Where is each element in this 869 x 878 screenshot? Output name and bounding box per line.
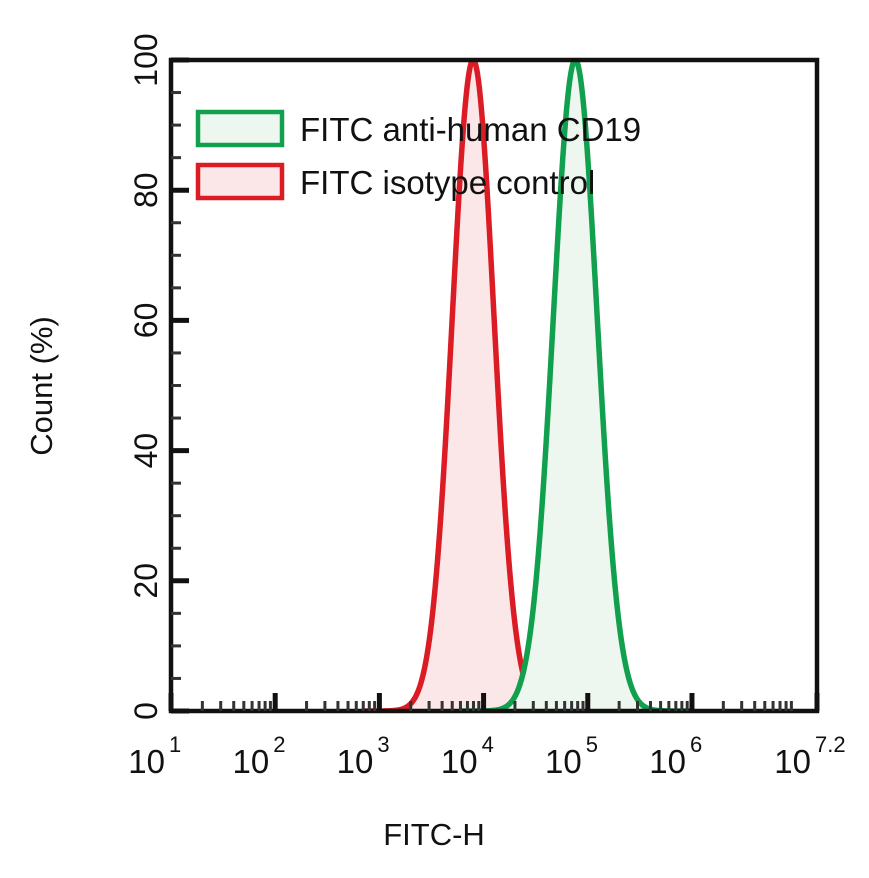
x-tick-exponent: 6 <box>690 732 702 757</box>
x-tick-exponent: 1 <box>169 732 181 757</box>
legend-label-isotype-control: FITC isotype control <box>300 164 595 201</box>
x-tick-base: 10 <box>545 743 582 780</box>
y-tick-label: 40 <box>128 433 164 469</box>
y-tick-label: 80 <box>128 172 164 208</box>
x-tick-base: 10 <box>441 743 478 780</box>
legend-label-anti-human-cd19: FITC anti-human CD19 <box>300 111 641 148</box>
x-tick-exponent: 4 <box>482 732 494 757</box>
x-tick-base: 10 <box>337 743 374 780</box>
y-tick-label: 20 <box>128 563 164 599</box>
x-tick-exponent: 5 <box>586 732 598 757</box>
legend-swatch-green <box>198 112 282 145</box>
y-axis-title: Count (%) <box>24 316 59 456</box>
x-tick-base: 10 <box>649 743 686 780</box>
x-tick-exponent: 2 <box>273 732 285 757</box>
legend-entry-0[interactable]: FITC anti-human CD19 <box>198 111 641 148</box>
flow-cytometry-histogram: 101102103104105106107.2 020406080100 FIT… <box>0 0 869 878</box>
histogram-plot: 101102103104105106107.2 020406080100 FIT… <box>0 0 869 878</box>
legend-entry-1[interactable]: FITC isotype control <box>198 164 595 201</box>
x-tick-exponent: 7.2 <box>815 732 846 757</box>
x-tick-base: 10 <box>232 743 269 780</box>
y-tick-label: 0 <box>128 702 164 720</box>
y-tick-label: 60 <box>128 303 164 339</box>
legend-swatch-red <box>198 165 282 198</box>
x-axis-title: FITC-H <box>383 817 485 852</box>
x-tick-exponent: 3 <box>377 732 389 757</box>
x-tick-base: 10 <box>774 743 811 780</box>
y-tick-label: 100 <box>128 33 164 86</box>
x-tick-base: 10 <box>128 743 165 780</box>
